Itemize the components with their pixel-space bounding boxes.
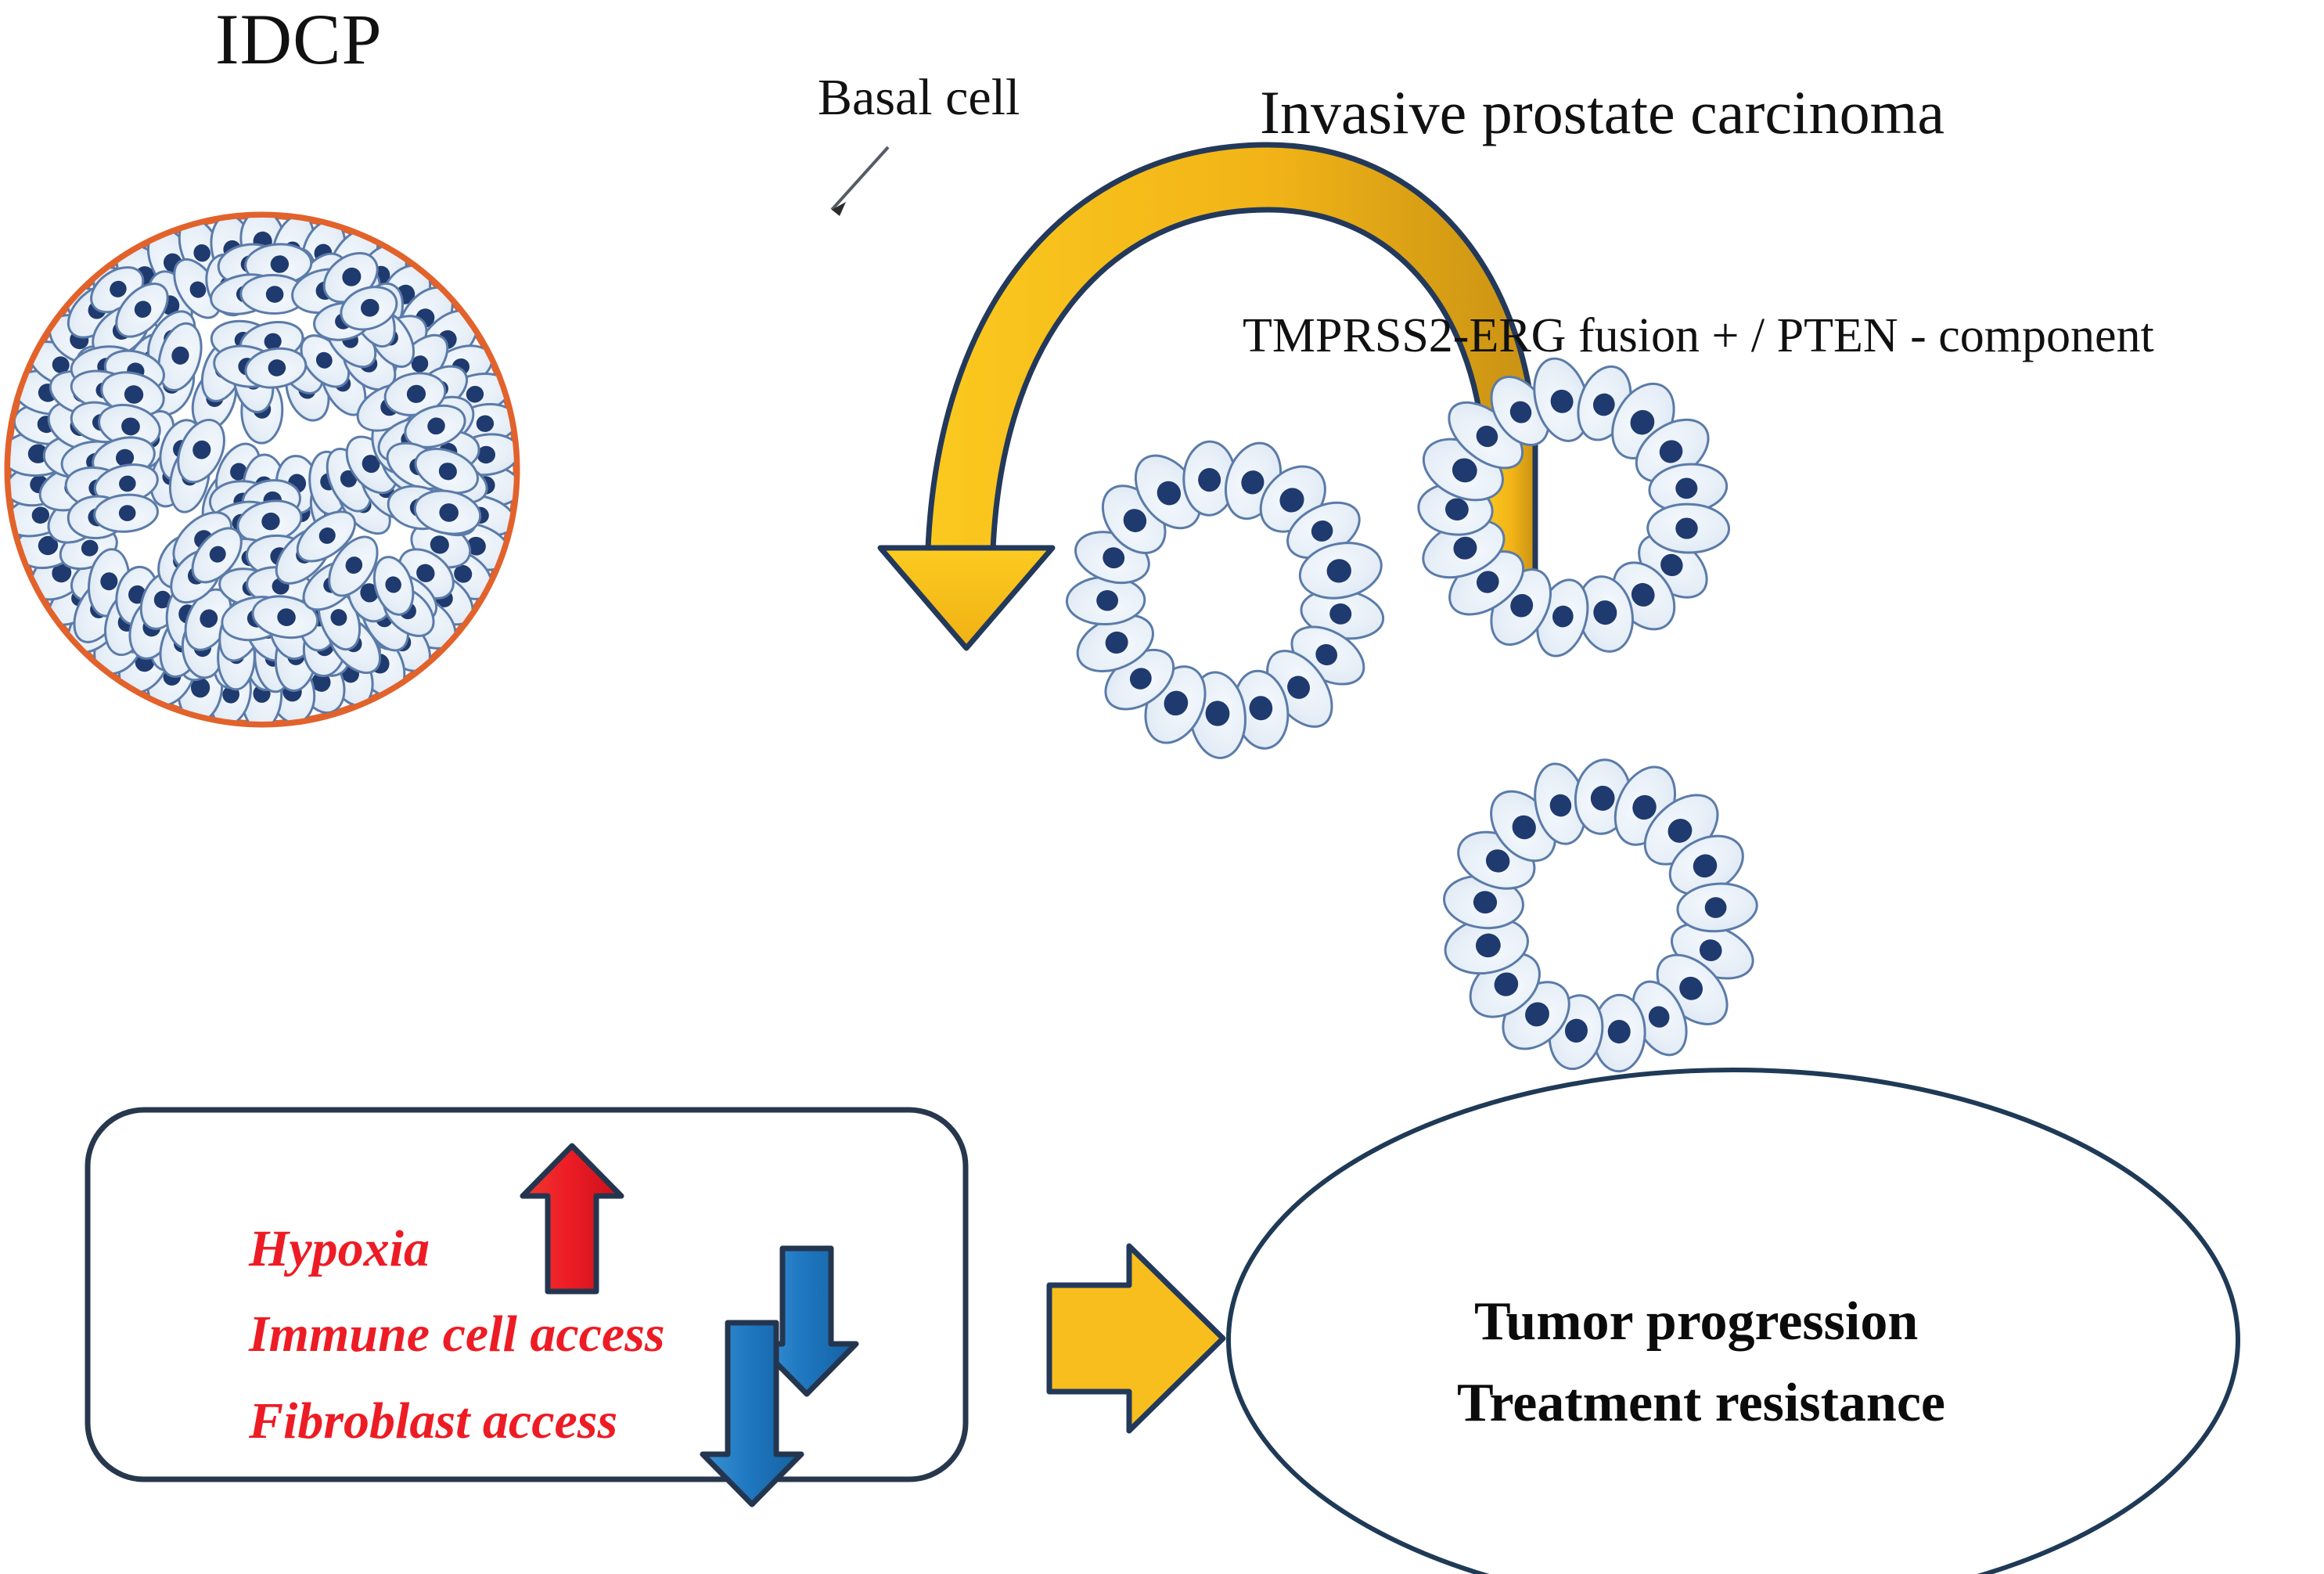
gland-top-right: [1414, 352, 1729, 662]
consequence-item-fibroblast-access: Fibroblast access: [249, 1396, 617, 1447]
idcp-structure: [1, 208, 523, 730]
consequence-item-hypoxia: Hypoxia: [249, 1223, 430, 1275]
consequence-item-immune-cell-access: Immune cell access: [249, 1309, 665, 1360]
pointer-line-arrow: [832, 147, 888, 216]
page-title: IDCP: [215, 3, 383, 75]
block-arrow-right-yellow: [1049, 1246, 1223, 1431]
basal-cell-label: Basal cell: [818, 72, 1020, 124]
epithelial-cell: [1067, 576, 1146, 625]
gland-bottom-right: [1441, 757, 1761, 1074]
outcome-line-1: Tumor progression: [1474, 1295, 1918, 1349]
molecular-status-label: TMPRSS2-ERG fusion + / PTEN - component: [1243, 312, 2154, 360]
epithelial-cell: [1647, 503, 1729, 553]
figure-canvas: IDCP Basal cell Invasive prostate carcin…: [0, 0, 2324, 1574]
outcome-line-2: Treatment resistance: [1457, 1376, 1945, 1431]
gland-left: [1067, 436, 1387, 761]
idcp-cell-field: [1, 208, 523, 730]
invasive-carcinoma-label: Invasive prostate carcinoma: [1260, 82, 1944, 143]
